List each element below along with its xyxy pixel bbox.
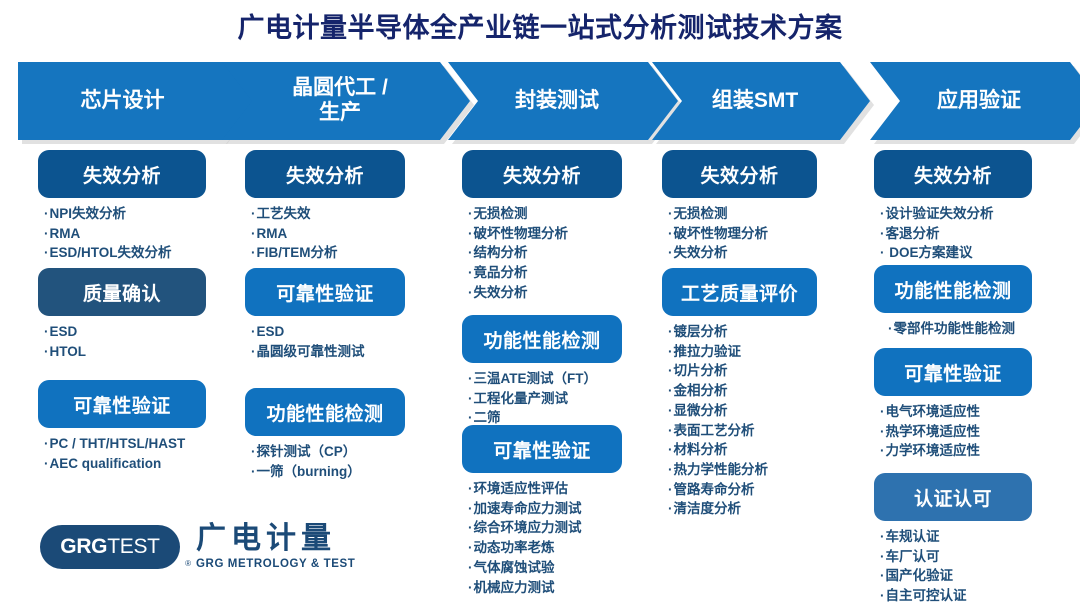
bullet-item: 综合环境应力测试 <box>468 518 622 538</box>
block-wafer-foundry-3: 功能性能检测探针测试（CP）一筛（burning） <box>245 388 405 481</box>
registered-trademark-icon: ® <box>185 559 191 568</box>
bullet-list-assembly-smt-2: 镀层分析推拉力验证切片分析金相分析显微分析表面工艺分析材料分析热力学性能分析管路… <box>662 322 817 519</box>
bullet-item: 工艺失效 <box>251 204 405 224</box>
block-assembly-smt-1: 失效分析无损检测破坏性物理分析失效分析 <box>662 150 817 263</box>
bullet-item: HTOL <box>44 342 206 362</box>
block-application-validation-1: 失效分析设计验证失效分析客退分析 DOE方案建议 <box>874 150 1032 263</box>
category-pill-chip-design-2[interactable]: 质量确认 <box>38 268 206 316</box>
bullet-item: 显微分析 <box>668 401 817 421</box>
category-pill-application-validation-3[interactable]: 可靠性验证 <box>874 348 1032 396</box>
bullet-item: ESD/HTOL失效分析 <box>44 243 206 263</box>
category-pill-chip-design-1[interactable]: 失效分析 <box>38 150 206 198</box>
category-pill-label: 功能性能检测 <box>483 326 600 353</box>
block-chip-design-2: 质量确认ESDHTOL <box>38 268 206 361</box>
category-pill-chip-design-3[interactable]: 可靠性验证 <box>38 380 206 428</box>
bullet-list-wafer-foundry-2: ESD晶圆级可靠性测试 <box>245 322 405 361</box>
category-pill-application-validation-1[interactable]: 失效分析 <box>874 150 1032 198</box>
bullet-item: 气体腐蚀试验 <box>468 558 622 578</box>
stage-chevron-label-1: 芯片设计 <box>81 89 165 114</box>
bullet-item: RMA <box>251 224 405 244</box>
bullet-item: ESD <box>44 322 206 342</box>
bullet-item: 表面工艺分析 <box>668 421 817 441</box>
block-assembly-smt-2: 工艺质量评价镀层分析推拉力验证切片分析金相分析显微分析表面工艺分析材料分析热力学… <box>662 268 817 519</box>
logo-wordmark-light: TEST <box>107 535 159 558</box>
category-pill-label: 可靠性验证 <box>904 359 1002 386</box>
category-pill-label: 功能性能检测 <box>266 399 383 426</box>
stage-chevron-4[interactable]: 组装SMT <box>652 62 870 140</box>
bullet-item: AEC qualification <box>44 454 206 474</box>
stage-chevron-label-3: 封装测试 <box>515 89 599 114</box>
category-pill-package-test-1[interactable]: 失效分析 <box>462 150 622 198</box>
bullet-item: 零部件功能性能检测 <box>888 319 1032 339</box>
category-pill-wafer-foundry-2[interactable]: 可靠性验证 <box>245 268 405 316</box>
category-pill-label: 认证认可 <box>914 484 992 511</box>
bullet-list-application-validation-2: 零部件功能性能检测 <box>874 319 1032 339</box>
bullet-item: 客退分析 <box>880 224 1032 244</box>
bullet-item: 国产化验证 <box>880 566 1032 586</box>
bullet-item: 失效分析 <box>668 243 817 263</box>
logo-wordmark: GRGTEST <box>60 535 159 559</box>
category-pill-label: 工艺质量评价 <box>681 279 798 306</box>
bullet-item: 电气环境适应性 <box>880 402 1032 422</box>
bullet-item: 晶圆级可靠性测试 <box>251 342 405 362</box>
block-package-test-2: 功能性能检测三温ATE测试（FT）工程化量产测试二筛 <box>462 315 622 428</box>
bullet-item: 失效分析 <box>468 283 622 303</box>
bullet-list-chip-design-2: ESDHTOL <box>38 322 206 361</box>
block-application-validation-2: 功能性能检测零部件功能性能检测 <box>874 265 1032 339</box>
bullet-list-application-validation-4: 车规认证车厂认可国产化验证自主可控认证 <box>874 527 1032 606</box>
stage-chevron-2[interactable]: 晶圆代工 / 生产 <box>222 62 470 140</box>
bullet-item: 材料分析 <box>668 440 817 460</box>
block-wafer-foundry-2: 可靠性验证ESD晶圆级可靠性测试 <box>245 268 405 361</box>
bullet-item: DOE方案建议 <box>880 243 1032 263</box>
logo-pill-mark: GRGTEST ® <box>40 525 180 569</box>
category-pill-application-validation-2[interactable]: 功能性能检测 <box>874 265 1032 313</box>
logo-chinese-name: 广电计量 <box>196 524 355 554</box>
bullet-item: ESD <box>251 322 405 342</box>
bullet-item: 金相分析 <box>668 381 817 401</box>
bullet-list-package-test-1: 无损检测破坏性物理分析结构分析竟品分析失效分析 <box>462 204 622 303</box>
bullet-item: 切片分析 <box>668 361 817 381</box>
category-pill-wafer-foundry-1[interactable]: 失效分析 <box>245 150 405 198</box>
bullet-item: 清洁度分析 <box>668 499 817 519</box>
logo-wordmark-bold: GRG <box>60 535 107 558</box>
bullet-item: 热力学性能分析 <box>668 460 817 480</box>
bullet-item: FIB/TEM分析 <box>251 243 405 263</box>
bullet-list-wafer-foundry-3: 探针测试（CP）一筛（burning） <box>245 442 405 481</box>
bullet-item: 破坏性物理分析 <box>668 224 817 244</box>
bullet-item: 破坏性物理分析 <box>468 224 622 244</box>
bullet-list-package-test-3: 环境适应性评估加速寿命应力测试综合环境应力测试动态功率老炼气体腐蚀试验机械应力测… <box>462 479 622 597</box>
bullet-item: 加速寿命应力测试 <box>468 499 622 519</box>
bullet-item: 推拉力验证 <box>668 342 817 362</box>
category-pill-wafer-foundry-3[interactable]: 功能性能检测 <box>245 388 405 436</box>
bullet-item: 镀层分析 <box>668 322 817 342</box>
page-title: 广电计量半导体全产业链一站式分析测试技术方案 <box>0 6 1080 45</box>
bullet-list-application-validation-1: 设计验证失效分析客退分析 DOE方案建议 <box>874 204 1032 263</box>
bullet-item: 探针测试（CP） <box>251 442 405 462</box>
category-pill-label: 可靠性验证 <box>276 279 374 306</box>
stage-chevron-label-4: 组装SMT <box>712 89 798 114</box>
bullet-item: 管路寿命分析 <box>668 480 817 500</box>
category-pill-label: 可靠性验证 <box>493 436 591 463</box>
block-chip-design-1: 失效分析NPI失效分析RMAESD/HTOL失效分析 <box>38 150 206 263</box>
block-wafer-foundry-1: 失效分析工艺失效RMAFIB/TEM分析 <box>245 150 405 263</box>
category-pill-label: 质量确认 <box>83 279 161 306</box>
stage-chevron-label-2: 晶圆代工 / 生产 <box>292 76 388 126</box>
block-package-test-3: 可靠性验证环境适应性评估加速寿命应力测试综合环境应力测试动态功率老炼气体腐蚀试验… <box>462 425 622 597</box>
bullet-item: 机械应力测试 <box>468 578 622 598</box>
block-application-validation-3: 可靠性验证电气环境适应性热学环境适应性力学环境适应性 <box>874 348 1032 461</box>
block-package-test-1: 失效分析无损检测破坏性物理分析结构分析竟品分析失效分析 <box>462 150 622 303</box>
category-pill-package-test-2[interactable]: 功能性能检测 <box>462 315 622 363</box>
bullet-item: PC / THT/HTSL/HAST <box>44 434 206 454</box>
category-pill-application-validation-4[interactable]: 认证认可 <box>874 473 1032 521</box>
bullet-item: 车厂认可 <box>880 547 1032 567</box>
stage-chevron-5[interactable]: 应用验证 <box>870 62 1080 140</box>
category-pill-label: 功能性能检测 <box>894 276 1011 303</box>
bullet-item: 结构分析 <box>468 243 622 263</box>
category-pill-assembly-smt-2[interactable]: 工艺质量评价 <box>662 268 817 316</box>
stage-chevron-3[interactable]: 封装测试 <box>448 62 678 140</box>
category-pill-package-test-3[interactable]: 可靠性验证 <box>462 425 622 473</box>
bullet-item: 自主可控认证 <box>880 586 1032 606</box>
bullet-item: 设计验证失效分析 <box>880 204 1032 224</box>
category-pill-assembly-smt-1[interactable]: 失效分析 <box>662 150 817 198</box>
bullet-list-wafer-foundry-1: 工艺失效RMAFIB/TEM分析 <box>245 204 405 263</box>
bullet-list-chip-design-3: PC / THT/HTSL/HASTAEC qualification <box>38 434 206 473</box>
bullet-item: 无损检测 <box>668 204 817 224</box>
bullet-item: 竟品分析 <box>468 263 622 283</box>
bullet-item: 三温ATE测试（FT） <box>468 369 622 389</box>
bullet-item: 环境适应性评估 <box>468 479 622 499</box>
bullet-item: 车规认证 <box>880 527 1032 547</box>
bullet-list-package-test-2: 三温ATE测试（FT）工程化量产测试二筛 <box>462 369 622 428</box>
category-pill-label: 失效分析 <box>914 161 992 188</box>
category-pill-label: 失效分析 <box>503 161 581 188</box>
bullet-item: 力学环境适应性 <box>880 441 1032 461</box>
bullet-item: NPI失效分析 <box>44 204 206 224</box>
stage-chevron-label-5: 应用验证 <box>937 89 1021 114</box>
bullet-item: RMA <box>44 224 206 244</box>
company-logo: GRGTEST ® 广电计量 GRG METROLOGY & TEST <box>40 524 355 570</box>
bullet-item: 工程化量产测试 <box>468 389 622 409</box>
process-chevron-band: 芯片设计晶圆代工 / 生产封装测试组装SMT应用验证 <box>0 62 1080 140</box>
stage-chevron-1[interactable]: 芯片设计 <box>18 62 253 140</box>
bullet-item: 动态功率老炼 <box>468 538 622 558</box>
bullet-list-chip-design-1: NPI失效分析RMAESD/HTOL失效分析 <box>38 204 206 263</box>
category-pill-label: 失效分析 <box>83 161 161 188</box>
category-pill-label: 失效分析 <box>700 161 778 188</box>
logo-text-group: 广电计量 GRG METROLOGY & TEST <box>196 524 355 570</box>
bullet-list-application-validation-3: 电气环境适应性热学环境适应性力学环境适应性 <box>874 402 1032 461</box>
bullet-item: 一筛（burning） <box>251 462 405 482</box>
bullet-item: 热学环境适应性 <box>880 422 1032 442</box>
category-pill-label: 失效分析 <box>286 161 364 188</box>
logo-english-name: GRG METROLOGY & TEST <box>196 558 355 570</box>
bullet-list-assembly-smt-1: 无损检测破坏性物理分析失效分析 <box>662 204 817 263</box>
bullet-item: 无损检测 <box>468 204 622 224</box>
block-chip-design-3: 可靠性验证PC / THT/HTSL/HASTAEC qualification <box>38 380 206 473</box>
block-application-validation-4: 认证认可车规认证车厂认可国产化验证自主可控认证 <box>874 473 1032 606</box>
category-pill-label: 可靠性验证 <box>73 391 171 418</box>
